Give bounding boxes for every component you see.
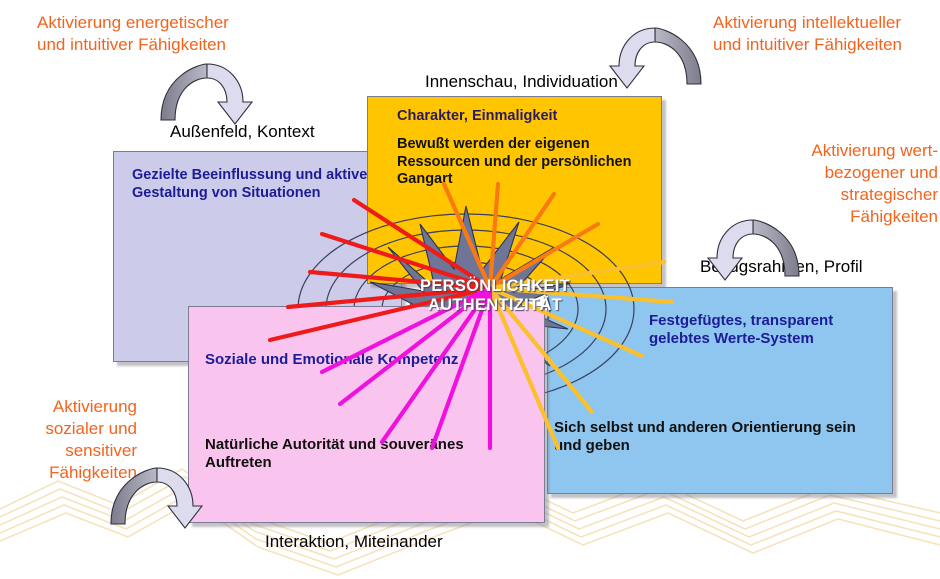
curved-arrow-icon-top-left [155,58,255,130]
curved-arrow-icon-top-right [607,22,707,94]
quadrant-title-innenschau: Charakter, Einmaligkeit [397,108,557,126]
caption-interaktion: Interaktion, Miteinander [265,532,443,552]
caption-bezugsrahmen: Bezugsrahmen, Profil [700,257,863,277]
quadrant-title-bezugsrahmen: Festgefügtes, transparent gelebtes Werte… [649,312,889,349]
activation-label-wertbezogen: Aktivierung wert-bezogener und strategis… [778,140,938,228]
quadrant-box-interaktion[interactable]: Soziale und Emotionale Kompetenz Natürli… [188,306,545,523]
quadrant-title-interaktion: Soziale und Emotionale Kompetenz [205,351,505,369]
quadrant-body-innenschau: Bewußt werden der eigenen Ressourcen und… [397,136,652,189]
caption-aussenfeld: Außenfeld, Kontext [170,122,315,142]
activation-label-energetisch: Aktivierung energetischer und intuitiver… [37,12,237,56]
diagram-canvas: Gezielte Beeinflussung und aktive Gestal… [0,0,940,579]
quadrant-body-interaktion: Natürliche Autorität und souveränes Auft… [205,436,525,473]
activation-label-sozial: Aktivierung sozialer und sensitiver Fähi… [12,396,137,484]
activation-label-intellektuell: Aktivierung intellektueller und intuitiv… [713,12,928,56]
caption-innenschau: Innenschau, Individuation [425,72,618,92]
